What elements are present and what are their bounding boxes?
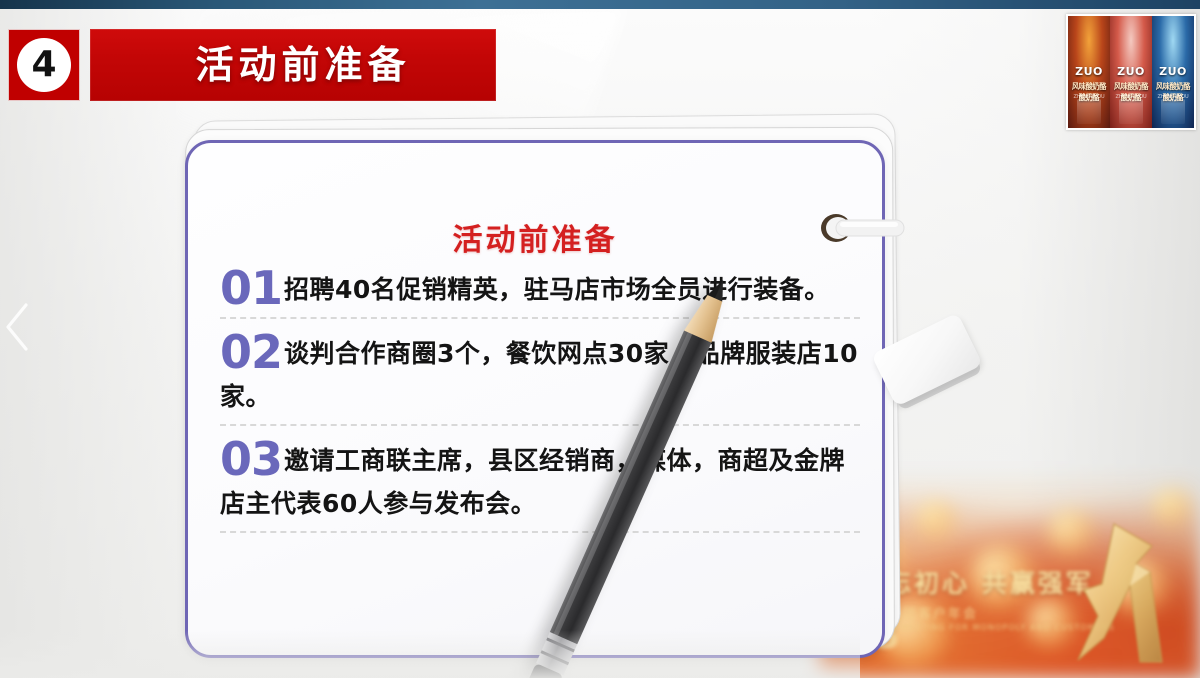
list-item-divider — [220, 531, 860, 533]
list-item-text: 招聘40名促销精英，驻马店市场全员进行装备。 — [284, 275, 830, 304]
presentation-slide: 8 不忘初心 共赢强军 年中集团客户年会 ANNUAL MEETING FOR … — [0, 0, 1200, 678]
list-item: 01招聘40名促销精英，驻马店市场全员进行装备。 — [220, 265, 860, 329]
section-number-value: 4 — [17, 38, 71, 92]
thumbnail-bottle — [1161, 99, 1185, 124]
thumbnail-brand: ZUO — [1068, 65, 1110, 78]
list-item: 02谈判合作商圈3个，餐饮网点30家，品牌服装店10家。 — [220, 329, 860, 436]
list-item: 03邀请工商联主席，县区经销商，媒体，商超及金牌店主代表60人参与发布会。 — [220, 436, 860, 543]
thumbnail-panel: ZUO 风味酸奶酪酸奶酪 ZHENGZHOU — [1110, 16, 1152, 128]
thumbnail-brand: ZUO — [1110, 65, 1152, 78]
header-banner: 活动前准备 — [90, 29, 496, 101]
list-item-divider — [220, 424, 860, 426]
product-thumbnail[interactable]: ZUO 风味酸奶酪酸奶酪 ZHENGZHOU ZUO 风味酸奶酪酸奶酪 ZHEN… — [1066, 14, 1196, 130]
card-title: 活动前准备 — [188, 215, 882, 259]
thumbnail-brand: ZUO — [1152, 65, 1194, 78]
content-card: 活动前准备 01招聘40名促销精英，驻马店市场全员进行装备。 02谈判合作商圈3… — [185, 140, 885, 658]
thumbnail-bottle — [1077, 99, 1101, 124]
section-number-badge: 4 — [8, 29, 80, 101]
list-item-text: 谈判合作商圈3个，餐饮网点30家，品牌服装店10家。 — [220, 339, 858, 411]
list-item-text: 邀请工商联主席，县区经销商，媒体，商超及金牌店主代表60人参与发布会。 — [220, 446, 845, 518]
list-item-number: 02 — [220, 329, 282, 375]
list-item-number: 03 — [220, 436, 282, 482]
golden-one-logo-icon — [1044, 520, 1176, 670]
bokeh-dot — [916, 500, 956, 540]
chevron-left-icon[interactable] — [0, 300, 34, 354]
thumbnail-panel: ZUO 风味酸奶酪酸奶酪 ZHENGZHOU — [1152, 16, 1194, 128]
bullet-list: 01招聘40名促销精英，驻马店市场全员进行装备。 02谈判合作商圈3个，餐饮网点… — [220, 265, 860, 543]
thumbnail-panel: ZUO 风味酸奶酪酸奶酪 ZHENGZHOU — [1068, 16, 1110, 128]
list-item-number: 01 — [220, 265, 282, 311]
list-item-divider — [220, 317, 860, 319]
page-title: 活动前准备 — [175, 46, 410, 84]
bokeh-dot — [970, 546, 1034, 610]
thumbnail-bottle — [1119, 99, 1143, 124]
top-accent-strip — [0, 0, 1200, 9]
paperclip-icon — [818, 212, 910, 244]
